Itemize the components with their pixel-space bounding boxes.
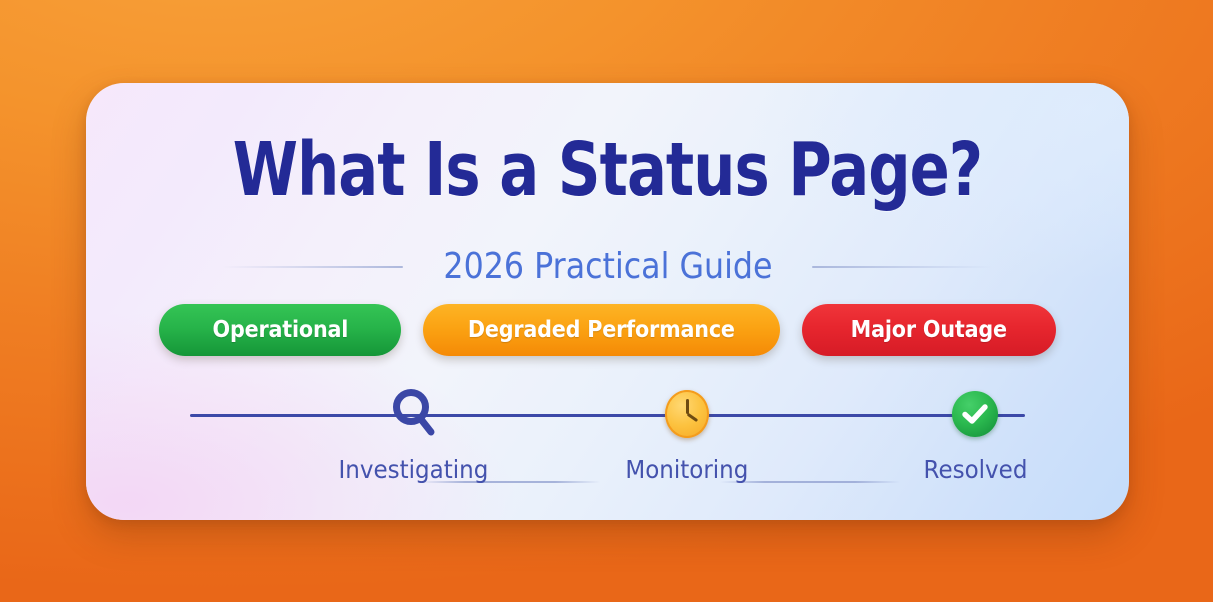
page-title: What Is a Status Page? — [190, 133, 1024, 207]
timeline-step-label: Monitoring — [625, 455, 748, 484]
timeline-step-label: Resolved — [923, 455, 1027, 484]
infographic-canvas: What Is a Status Page? 2026 Practical Gu… — [0, 0, 1213, 602]
status-badge-major-outage[interactable]: Major Outage — [802, 304, 1056, 356]
clock-minute-hand — [686, 399, 689, 414]
subtitle-rule-left — [223, 266, 403, 268]
status-badge-degraded-performance[interactable]: Degraded Performance — [423, 304, 780, 356]
status-badge-label: Degraded Performance — [468, 317, 735, 343]
subtitle-rule-right — [812, 266, 992, 268]
check-mark-icon — [961, 402, 989, 426]
clock-hour-hand — [686, 413, 698, 422]
card-inner: What Is a Status Page? 2026 Practical Gu… — [86, 83, 1129, 520]
page-subtitle: 2026 Practical Guide — [443, 246, 772, 287]
subtitle-row: 2026 Practical Guide — [86, 246, 1129, 287]
magnifier-icon — [384, 385, 442, 443]
clock-face — [665, 390, 709, 438]
timeline-step-resolved[interactable]: Resolved — [900, 383, 1050, 484]
status-pill-group: Operational Degraded Performance Major O… — [86, 304, 1129, 356]
check-circle-icon — [946, 385, 1004, 443]
timeline-step-investigating[interactable]: Investigating — [338, 383, 488, 484]
check-circle-badge — [952, 391, 998, 437]
incident-timeline: Investigating Monitoring — [190, 383, 1025, 493]
status-badge-label: Operational — [212, 317, 348, 343]
status-badge-operational[interactable]: Operational — [159, 304, 401, 356]
timeline-step-monitoring[interactable]: Monitoring — [612, 383, 762, 484]
content-card: What Is a Status Page? 2026 Practical Gu… — [86, 83, 1129, 520]
clock-icon — [658, 385, 716, 443]
timeline-step-label: Investigating — [338, 455, 488, 484]
status-badge-label: Major Outage — [851, 317, 1007, 343]
